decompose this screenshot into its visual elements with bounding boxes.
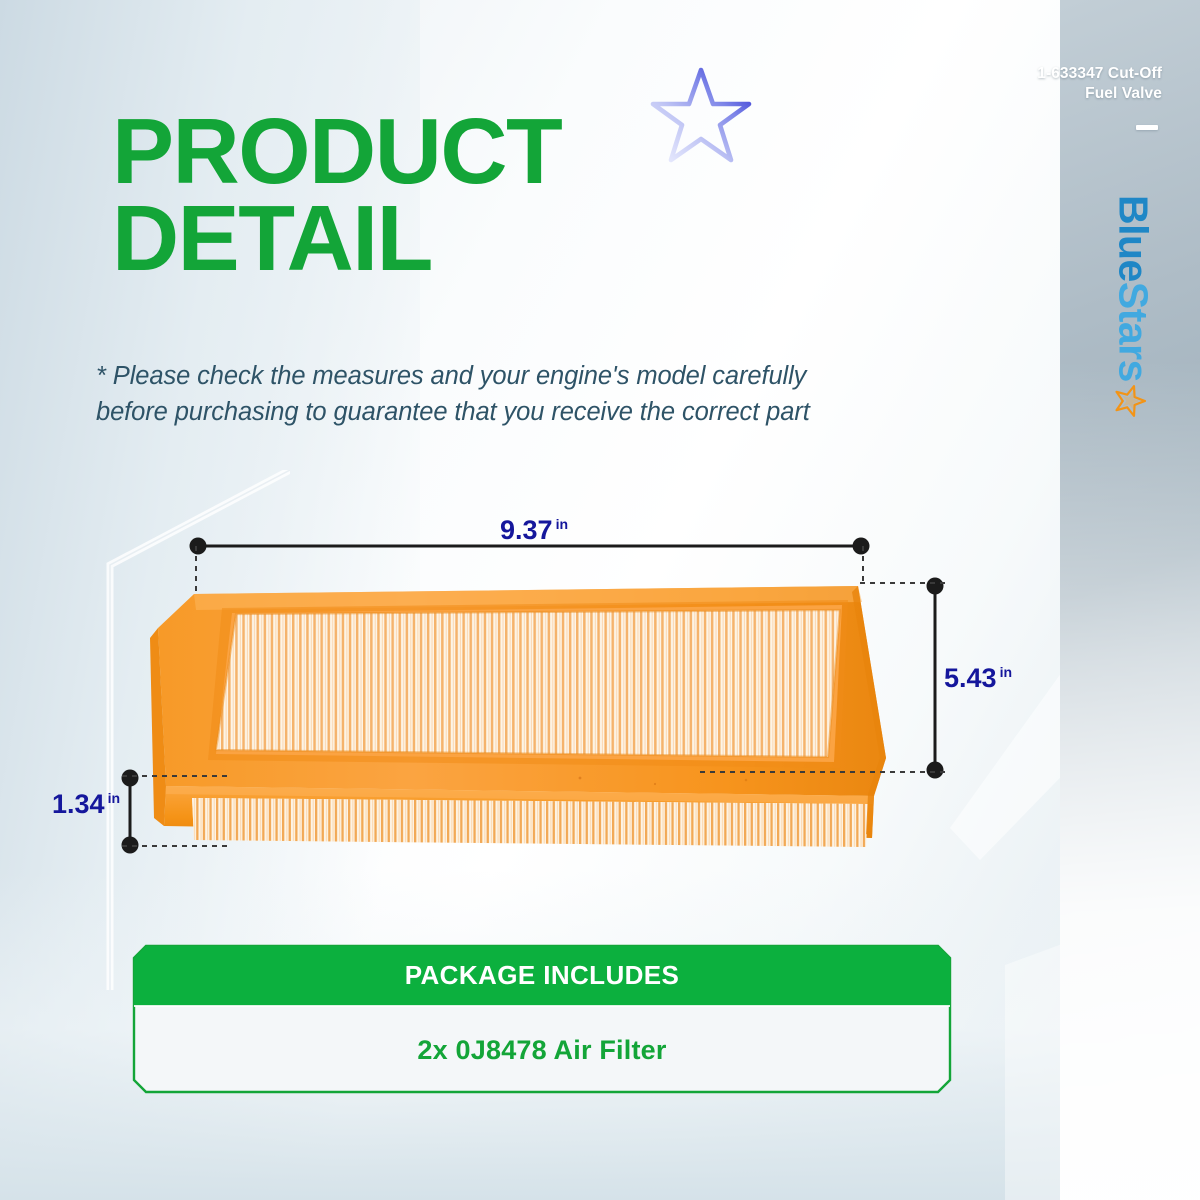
brand-logo: BlueStars <box>1082 195 1178 525</box>
brand-name-primary: Blue <box>1111 195 1157 282</box>
brand-name-secondary: Stars <box>1111 282 1157 382</box>
right-side-panel <box>1060 0 1200 1200</box>
dimension-depth-value: 1.34 <box>52 789 105 819</box>
part-code-line-2: Fuel Valve <box>932 84 1162 104</box>
part-code: 1-633347 Cut-Off Fuel Valve <box>932 64 1162 105</box>
disclaimer-text: * Please check the measures and your eng… <box>96 358 856 430</box>
dash-divider-icon <box>1136 125 1158 130</box>
dimension-width-label: 9.37in <box>500 515 568 546</box>
part-code-line-1: 1-633347 Cut-Off <box>932 64 1162 84</box>
brand-logo-text: BlueStars <box>1107 195 1154 418</box>
page-title-line-1: PRODUCT <box>112 108 812 195</box>
dimension-width-unit: in <box>556 516 568 532</box>
dimension-height-label: 5.43in <box>944 663 1012 694</box>
page-title-line-2: DETAIL <box>112 195 812 282</box>
dimension-height-value: 5.43 <box>944 663 997 693</box>
product-diagram <box>0 500 1060 920</box>
dimension-width-value: 9.37 <box>500 515 553 545</box>
package-includes-header: PACKAGE INCLUDES <box>132 944 952 1006</box>
dimension-depth-unit: in <box>108 790 120 806</box>
package-includes-box: PACKAGE INCLUDES 2x 0J8478 Air Filter <box>132 944 952 1094</box>
package-includes-item: 2x 0J8478 Air Filter <box>132 1006 952 1094</box>
page-title: PRODUCT DETAIL <box>112 108 812 283</box>
orange-star-icon <box>1107 384 1148 418</box>
dimension-lines <box>0 500 1060 920</box>
dimension-height-unit: in <box>1000 664 1012 680</box>
poster-canvas: 1-633347 Cut-Off Fuel Valve BlueStars PR… <box>0 0 1200 1200</box>
panel-gradient-fade <box>1060 0 1200 1200</box>
dimension-depth-label: 1.34in <box>52 789 120 820</box>
